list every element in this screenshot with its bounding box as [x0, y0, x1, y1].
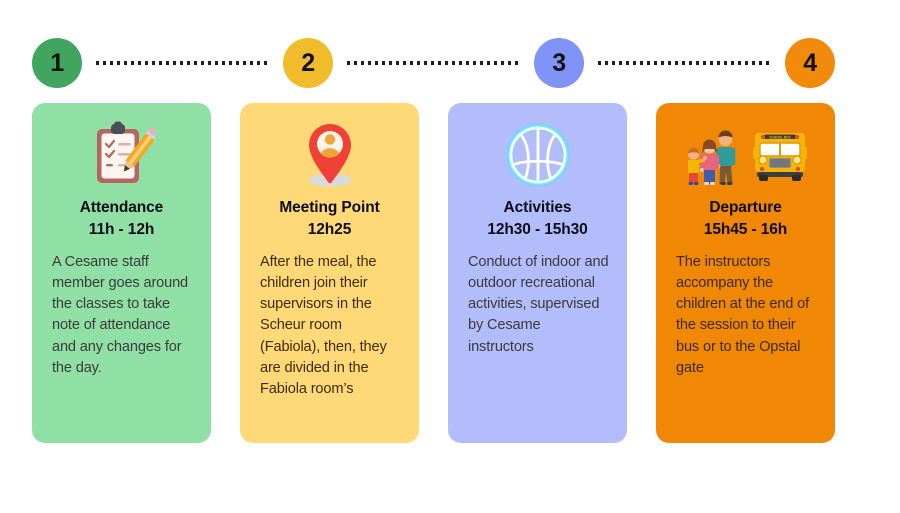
card-title-meeting-point: Meeting Point	[279, 197, 379, 219]
card-title-attendance: Attendance	[80, 197, 163, 219]
connector-dots-1	[96, 61, 269, 65]
card-body-meeting-point: After the meal, the children join their …	[254, 252, 405, 400]
step-circle-2[interactable]: 2	[283, 38, 333, 88]
step-number-2: 2	[301, 49, 314, 78]
marker-group-4: 4	[785, 38, 835, 88]
school-bus-icon: SCHOOL BUS	[751, 127, 809, 183]
step-circle-1[interactable]: 1	[32, 38, 82, 88]
step-circle-4[interactable]: 4	[785, 38, 835, 88]
family-icon	[683, 124, 743, 186]
card-time-meeting-point: 12h25	[308, 219, 351, 241]
clipboard-checklist-pencil-icon	[89, 119, 155, 191]
marker-group-1: 1	[32, 38, 283, 88]
svg-text:SCHOOL BUS: SCHOOL BUS	[769, 135, 790, 139]
card-title-activities: Activities	[504, 197, 572, 219]
connector-dots-2	[347, 61, 520, 65]
family-and-school-bus-icon: SCHOOL BUS	[683, 119, 809, 191]
basketball-icon	[505, 119, 571, 191]
step-number-3: 3	[552, 49, 565, 78]
step-number-1: 1	[50, 49, 63, 78]
marker-group-3: 3	[534, 38, 785, 88]
card-title-departure: Departure	[709, 197, 781, 219]
step-card-meeting-point[interactable]: Meeting Point 12h25 After the meal, the …	[240, 103, 419, 443]
card-body-activities: Conduct of indoor and outdoor recreation…	[462, 252, 613, 358]
map-pin-person-icon	[297, 119, 363, 191]
step-card-attendance[interactable]: Attendance 11h - 12h A Cesame staff memb…	[32, 103, 211, 443]
step-circle-3[interactable]: 3	[534, 38, 584, 88]
connector-dots-3	[598, 61, 771, 65]
step-markers-row: 1 2 3 4	[32, 38, 835, 88]
step-cards-row: Attendance 11h - 12h A Cesame staff memb…	[32, 103, 835, 443]
card-time-departure: 15h45 - 16h	[704, 219, 787, 241]
card-body-attendance: A Cesame staff member goes around the cl…	[46, 252, 197, 379]
step-card-departure[interactable]: SCHOOL BUS	[656, 103, 835, 443]
card-body-departure: The instructors accompany the children a…	[670, 252, 821, 379]
card-time-attendance: 11h - 12h	[89, 219, 154, 241]
timeline-infographic: 1 2 3 4	[0, 0, 900, 513]
step-card-activities[interactable]: Activities 12h30 - 15h30 Conduct of indo…	[448, 103, 627, 443]
card-time-activities: 12h30 - 15h30	[487, 219, 587, 241]
step-number-4: 4	[803, 49, 816, 78]
marker-group-2: 2	[283, 38, 534, 88]
